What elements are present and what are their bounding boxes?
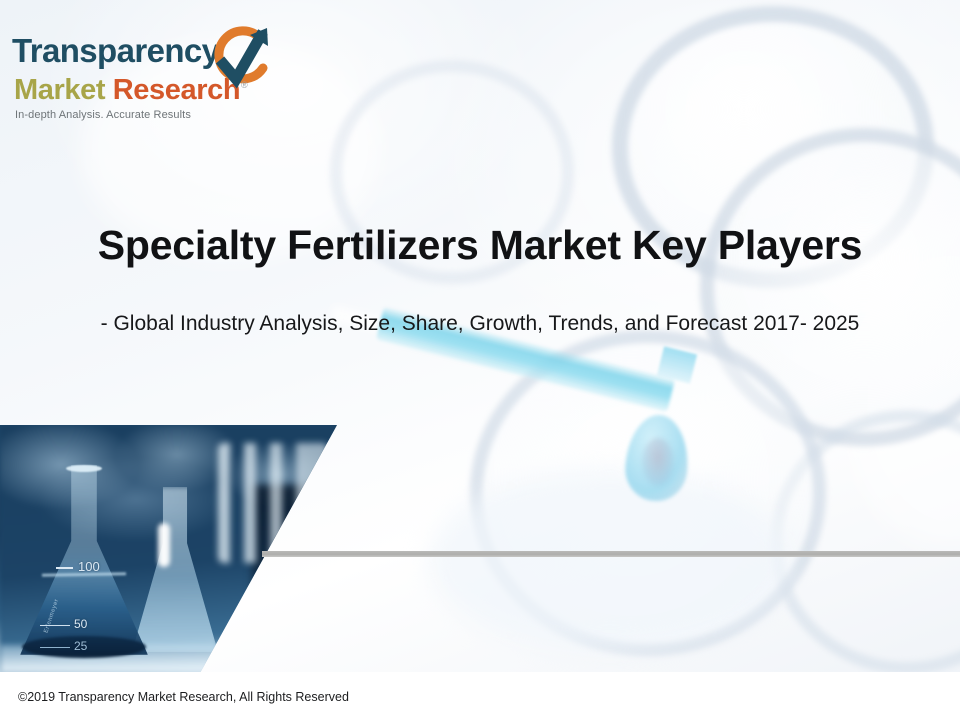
- page-title: Specialty Fertilizers Market Key Players: [0, 222, 960, 269]
- tmr-logo[interactable]: Transparency Market Research In-depth An…: [12, 22, 272, 130]
- flask-graduation-100: 100: [78, 559, 100, 574]
- page-subtitle: - Global Industry Analysis, Size, Share,…: [0, 312, 960, 336]
- registered-trademark-icon: ®: [241, 80, 248, 90]
- flask-graduation-25: 25: [74, 639, 87, 653]
- erlenmeyer-flask-icon: 100 50 25 Erlenmeyer: [20, 465, 148, 655]
- checkmark-arrow-icon: [205, 24, 273, 96]
- background-blur-smear: [430, 470, 790, 650]
- logo-tagline: In-depth Analysis. Accurate Results: [15, 109, 191, 121]
- copyright-text: ©2019 Transparency Market Research, All …: [18, 690, 349, 704]
- logo-word-market: Market: [14, 74, 113, 106]
- flask-rim: [66, 465, 102, 472]
- divider-bar: [262, 551, 960, 557]
- droplet-core: [642, 438, 674, 486]
- background-flask-highlight: [158, 523, 170, 567]
- logo-wordmark-transparency: Transparency: [12, 32, 219, 70]
- slide-canvas: 100 50 25 Erlenmeyer Transparency Market…: [0, 0, 960, 720]
- flask-graduation-50: 50: [74, 617, 87, 631]
